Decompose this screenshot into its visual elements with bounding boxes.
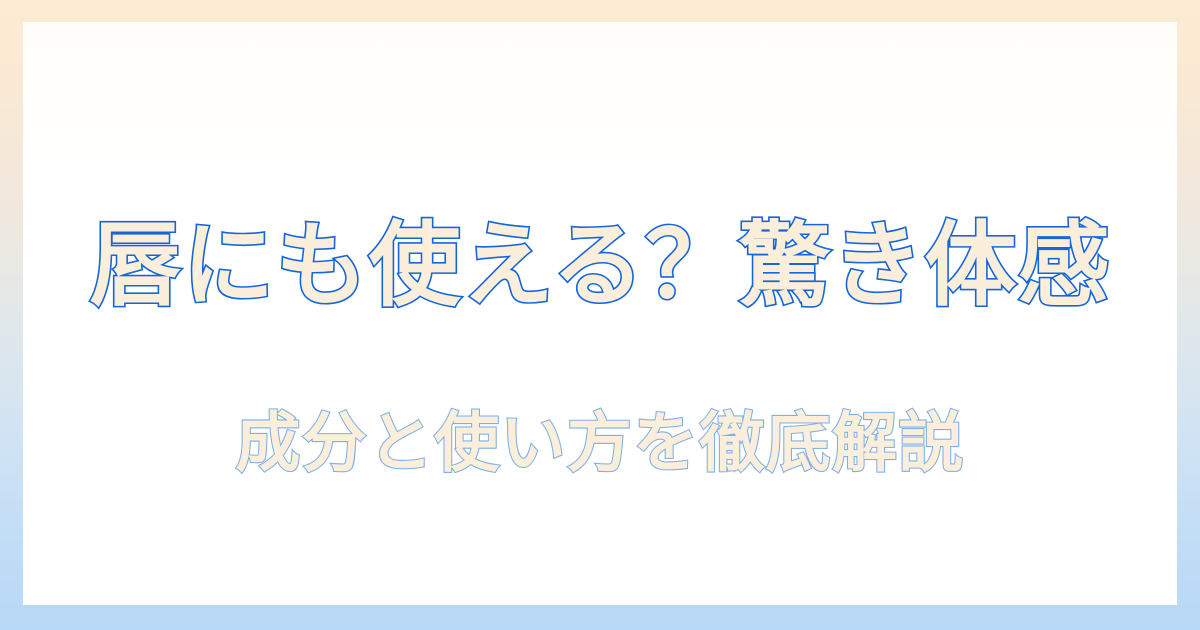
page-title: 唇にも使える？驚き体感 (89, 214, 1110, 317)
page-subtitle: 成分と使い方を徹底解説 (235, 408, 964, 481)
eyecatch-card: 唇にも使える？驚き体感 成分と使い方を徹底解説 (0, 0, 1200, 630)
subheadline-container: 成分と使い方を徹底解説 (23, 408, 1177, 481)
content-canvas: 唇にも使える？驚き体感 成分と使い方を徹底解説 (23, 22, 1177, 605)
headline-container: 唇にも使える？驚き体感 (23, 214, 1177, 317)
